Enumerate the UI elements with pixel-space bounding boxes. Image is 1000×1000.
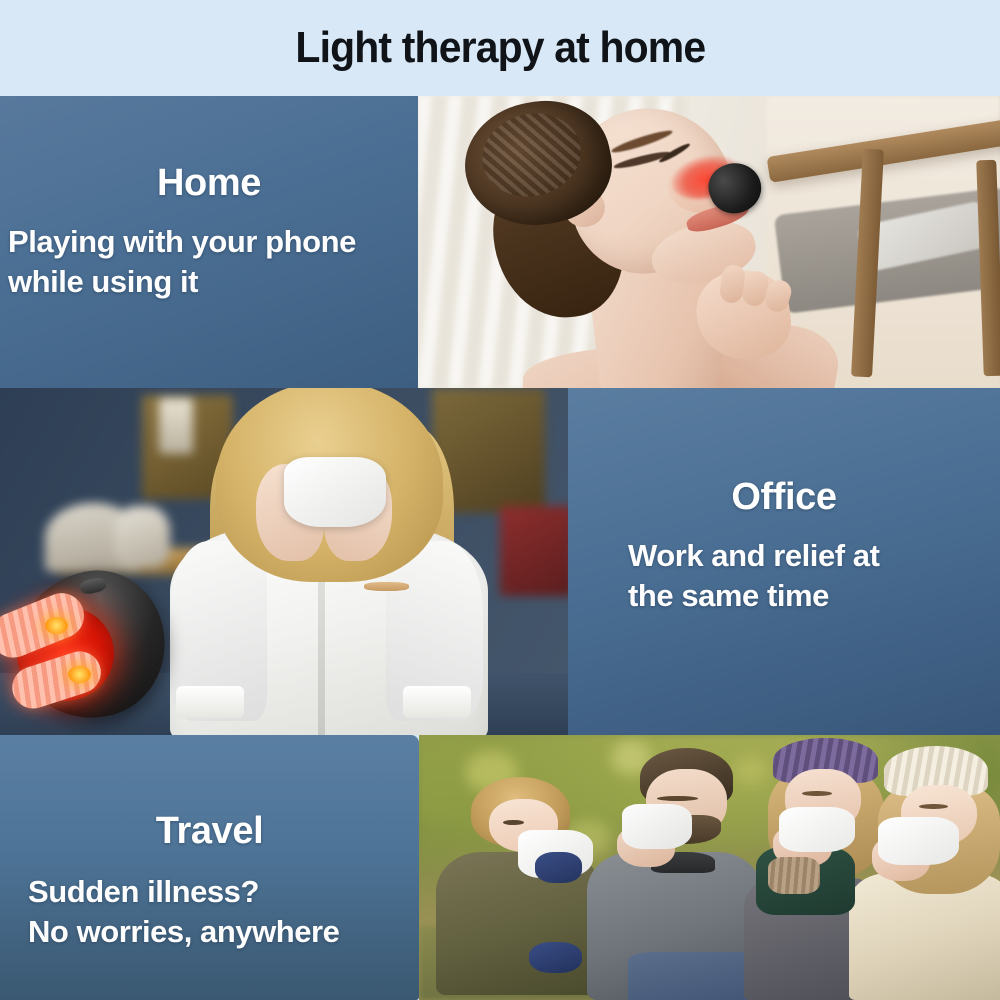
- device-led-icon: [68, 666, 91, 683]
- photo-woman-bedroom: [418, 96, 1000, 388]
- product-infographic: Light therapy at home Home Playing with …: [0, 0, 1000, 1000]
- row-office: Office Work and relief at the same time: [0, 388, 1000, 735]
- header-band: Light therapy at home: [0, 0, 1000, 96]
- panel-home: Home Playing with your phone while using…: [0, 96, 418, 388]
- panel-travel-body-line-2: No worries, anywhere: [28, 912, 419, 952]
- panel-home-body-line-1: Playing with your phone: [8, 222, 418, 262]
- panel-travel-title: Travel: [0, 810, 419, 853]
- panel-home-body-line-2: while using it: [8, 262, 418, 302]
- row-home: Home Playing with your phone while using…: [0, 96, 1000, 388]
- panel-home-body: Playing with your phone while using it: [8, 222, 418, 303]
- panel-home-title: Home: [0, 162, 418, 205]
- photo-family-outdoors: [419, 735, 1000, 1000]
- panel-travel: Travel Sudden illness? No worries, anywh…: [0, 735, 419, 1000]
- panel-travel-body: Sudden illness? No worries, anywhere: [28, 872, 419, 953]
- page-title: Light therapy at home: [295, 26, 705, 70]
- panel-office-title: Office: [568, 476, 1000, 519]
- panel-travel-body-line-1: Sudden illness?: [28, 872, 419, 912]
- panel-office: Office Work and relief at the same time: [568, 388, 1000, 735]
- row-travel: Travel Sudden illness? No worries, anywh…: [0, 735, 1000, 1000]
- photo-woman-sneezing: [0, 388, 568, 735]
- panel-office-body-line-1: Work and relief at: [628, 536, 1000, 576]
- panel-office-body: Work and relief at the same time: [628, 536, 1000, 617]
- panel-office-body-line-2: the same time: [628, 576, 1000, 616]
